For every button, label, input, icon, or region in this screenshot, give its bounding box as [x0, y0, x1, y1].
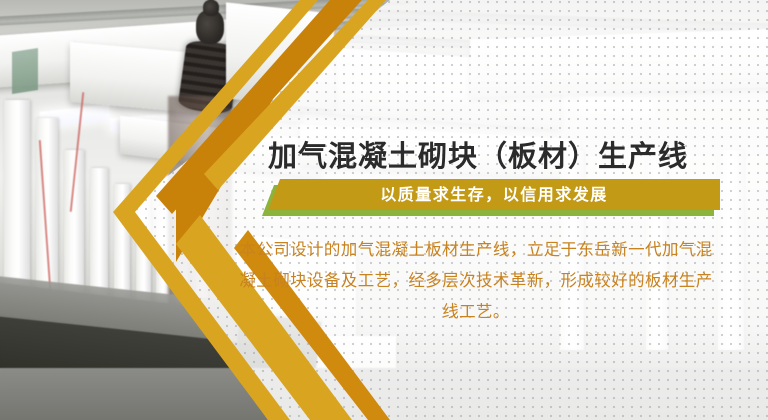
- subtitle-text: 以质量求生存，以信用求发展: [268, 179, 720, 210]
- body-paragraph: 本公司设计的加气混凝土板材生产线，立足于东岳新一代加气混凝土砌块设备及工艺，经多…: [232, 234, 720, 327]
- page-title: 加气混凝土砌块（板材）生产线: [268, 133, 728, 175]
- subtitle-banner: 以质量求生存，以信用求发展: [262, 178, 720, 216]
- banner-content: 加气混凝土砌块（板材）生产线 以质量求生存，以信用求发展 本公司设计的加气混凝土…: [228, 0, 728, 420]
- promo-banner: 加气混凝土砌块（板材）生产线 以质量求生存，以信用求发展 本公司设计的加气混凝土…: [0, 0, 768, 420]
